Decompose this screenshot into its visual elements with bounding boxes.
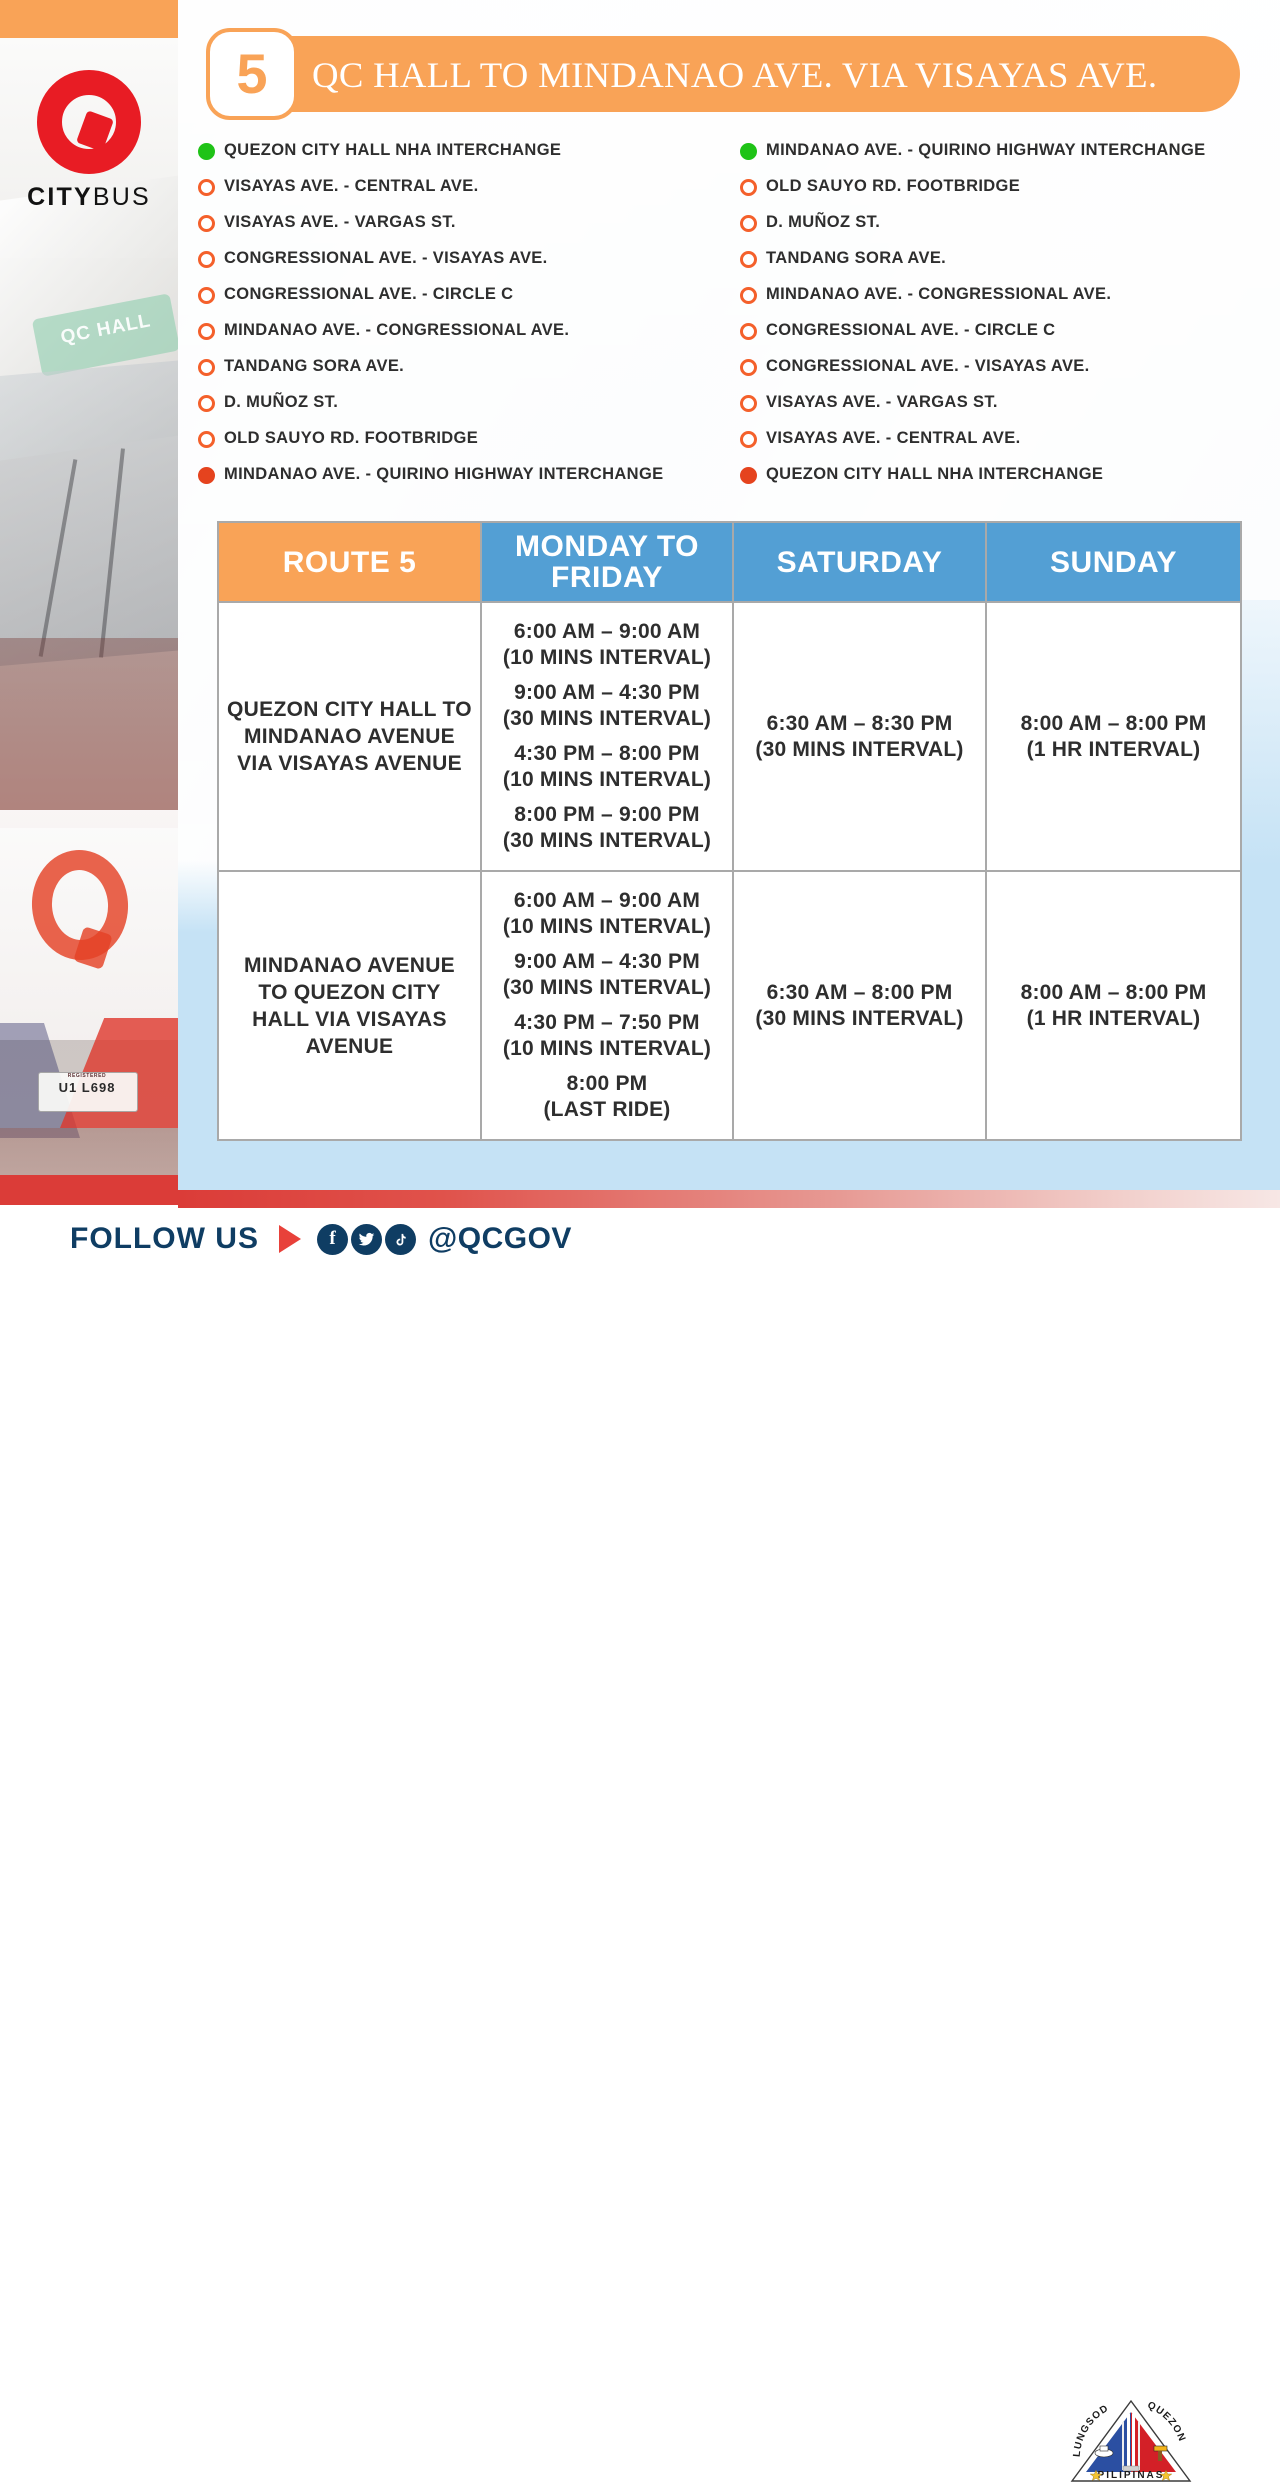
top-orange-accent-bar bbox=[0, 0, 178, 38]
column-header-saturday: SATURDAY bbox=[733, 522, 986, 602]
time-block: 4:30 PM – 7:50 PM(10 MINS INTERVAL) bbox=[490, 1010, 724, 1062]
stop-label: MINDANAO AVE. - CONGRESSIONAL AVE. bbox=[766, 282, 1111, 304]
route-title: QC HALL TO MINDANAO AVE. VIA VISAYAS AVE… bbox=[312, 52, 1261, 102]
stop-item: MINDANAO AVE. - QUIRINO HIGHWAY INTERCHA… bbox=[738, 138, 1268, 174]
stop-marker-plain-icon bbox=[198, 287, 215, 304]
saturday-schedule-cell: 6:30 AM – 8:00 PM(30 MINS INTERVAL) bbox=[733, 871, 986, 1140]
column-header-route: ROUTE 5 bbox=[218, 522, 481, 602]
footer-red-gradient-bar bbox=[178, 1190, 1280, 1208]
sunday-schedule-cell: 8:00 AM – 8:00 PM(1 HR INTERVAL) bbox=[986, 602, 1241, 871]
stop-marker-plain-icon bbox=[198, 395, 215, 412]
time-block: 9:00 AM – 4:30 PM(30 MINS INTERVAL) bbox=[490, 949, 724, 1001]
photo-plate-registered-label: REGISTERED bbox=[38, 1073, 136, 1079]
stop-item: TANDANG SORA AVE. bbox=[738, 246, 1268, 282]
stop-marker-plain-icon bbox=[740, 395, 757, 412]
stop-label: OLD SAUYO RD. FOOTBRIDGE bbox=[766, 174, 1020, 196]
stop-marker-plain-icon bbox=[740, 287, 757, 304]
stop-label: VISAYAS AVE. - CENTRAL AVE. bbox=[224, 174, 479, 196]
schedule-row: MINDANAO AVENUE TO QUEZON CITY HALL VIA … bbox=[218, 871, 1241, 1140]
stop-marker-plain-icon bbox=[740, 179, 757, 196]
footer: FOLLOW US f @QCGOV LUNGSOD bbox=[0, 1208, 1280, 1280]
schedule-table: ROUTE 5 MONDAY TO FRIDAY SATURDAY SUNDAY… bbox=[217, 521, 1242, 1141]
stop-marker-plain-icon bbox=[740, 431, 757, 448]
weekday-schedule-cell: 6:00 AM – 9:00 AM(10 MINS INTERVAL)9:00 … bbox=[481, 871, 733, 1140]
stop-label: VISAYAS AVE. - VARGAS ST. bbox=[766, 390, 998, 412]
stop-marker-green-icon bbox=[198, 143, 215, 160]
stop-list-inbound: MINDANAO AVE. - QUIRINO HIGHWAY INTERCHA… bbox=[738, 138, 1268, 498]
stop-label: QUEZON CITY HALL NHA INTERCHANGE bbox=[766, 462, 1103, 484]
tiktok-icon[interactable] bbox=[385, 1224, 416, 1255]
stop-item: D. MUÑOZ ST. bbox=[196, 390, 716, 426]
schedule-body: QUEZON CITY HALL TO MINDANAO AVENUE VIA … bbox=[218, 602, 1241, 1140]
stop-item: MINDANAO AVE. - CONGRESSIONAL AVE. bbox=[196, 318, 716, 354]
stop-label: D. MUÑOZ ST. bbox=[766, 210, 880, 232]
stop-item: MINDANAO AVE. - CONGRESSIONAL AVE. bbox=[738, 282, 1268, 318]
direction-cell: MINDANAO AVENUE TO QUEZON CITY HALL VIA … bbox=[218, 871, 481, 1140]
stop-label: MINDANAO AVE. - QUIRINO HIGHWAY INTERCHA… bbox=[766, 138, 1206, 160]
stop-label: VISAYAS AVE. - VARGAS ST. bbox=[224, 210, 456, 232]
time-block: 4:30 PM – 8:00 PM(10 MINS INTERVAL) bbox=[490, 741, 724, 793]
photo-plate-number: U1 L698 bbox=[38, 1080, 136, 1095]
stop-item: TANDANG SORA AVE. bbox=[196, 354, 716, 390]
stop-item: VISAYAS AVE. - CENTRAL AVE. bbox=[196, 174, 716, 210]
stop-marker-plain-icon bbox=[198, 251, 215, 268]
stop-item: CONGRESSIONAL AVE. - CIRCLE C bbox=[196, 282, 716, 318]
stop-label: TANDANG SORA AVE. bbox=[766, 246, 946, 268]
quezon-city-seal-icon: LUNGSOD QUEZON PILIPINAS bbox=[1066, 2396, 1196, 2488]
route-number: 5 bbox=[236, 46, 267, 102]
stop-item: CONGRESSIONAL AVE. - VISAYAS AVE. bbox=[738, 354, 1268, 390]
stop-marker-red-icon bbox=[198, 467, 215, 484]
time-block: 6:00 AM – 9:00 AM(10 MINS INTERVAL) bbox=[490, 619, 724, 671]
facebook-icon[interactable]: f bbox=[317, 1224, 348, 1255]
stop-marker-plain-icon bbox=[740, 359, 757, 376]
twitter-icon[interactable] bbox=[351, 1224, 382, 1255]
stop-label: D. MUÑOZ ST. bbox=[224, 390, 338, 412]
follow-us-row: FOLLOW US f @QCGOV bbox=[70, 1222, 572, 1256]
saturday-schedule-cell: 6:30 AM – 8:30 PM(30 MINS INTERVAL) bbox=[733, 602, 986, 871]
stop-item: OLD SAUYO RD. FOOTBRIDGE bbox=[196, 426, 716, 462]
stop-marker-plain-icon bbox=[198, 323, 215, 340]
time-block: 8:00 PM – 9:00 PM(30 MINS INTERVAL) bbox=[490, 802, 724, 854]
schedule-row: QUEZON CITY HALL TO MINDANAO AVENUE VIA … bbox=[218, 602, 1241, 871]
stop-marker-plain-icon bbox=[198, 359, 215, 376]
stop-label: CONGRESSIONAL AVE. - VISAYAS AVE. bbox=[766, 354, 1090, 376]
seal-text-bottom: PILIPINAS bbox=[1098, 2470, 1165, 2481]
column-header-sunday: SUNDAY bbox=[986, 522, 1241, 602]
stop-label: QUEZON CITY HALL NHA INTERCHANGE bbox=[224, 138, 561, 160]
time-block: 6:00 AM – 9:00 AM(10 MINS INTERVAL) bbox=[490, 888, 724, 940]
route-number-badge: 5 bbox=[206, 28, 298, 120]
stop-label: CONGRESSIONAL AVE. - CIRCLE C bbox=[224, 282, 513, 304]
stop-label: VISAYAS AVE. - CENTRAL AVE. bbox=[766, 426, 1021, 448]
stop-marker-plain-icon bbox=[198, 431, 215, 448]
stop-list-outbound: QUEZON CITY HALL NHA INTERCHANGEVISAYAS … bbox=[196, 138, 716, 498]
photo-shadow-band bbox=[0, 638, 178, 828]
social-handle: @QCGOV bbox=[428, 1222, 572, 1256]
stop-marker-plain-icon bbox=[198, 215, 215, 232]
stop-item: VISAYAS AVE. - VARGAS ST. bbox=[196, 210, 716, 246]
stop-item: CONGRESSIONAL AVE. - VISAYAS AVE. bbox=[196, 246, 716, 282]
citybus-logo: CITYBUS bbox=[0, 70, 178, 212]
stop-item: VISAYAS AVE. - VARGAS ST. bbox=[738, 390, 1268, 426]
stop-label: MINDANAO AVE. - QUIRINO HIGHWAY INTERCHA… bbox=[224, 462, 664, 484]
sunday-schedule-cell: 8:00 AM – 8:00 PM(1 HR INTERVAL) bbox=[986, 871, 1241, 1140]
stop-label: OLD SAUYO RD. FOOTBRIDGE bbox=[224, 426, 478, 448]
stop-item: D. MUÑOZ ST. bbox=[738, 210, 1268, 246]
qc-q-logo-tail-icon bbox=[76, 110, 114, 152]
qc-q-logo-icon bbox=[37, 70, 141, 174]
stop-marker-plain-icon bbox=[740, 251, 757, 268]
follow-us-label: FOLLOW US bbox=[70, 1222, 259, 1256]
time-block: 9:00 AM – 4:30 PM(30 MINS INTERVAL) bbox=[490, 680, 724, 732]
citybus-wordmark: CITYBUS bbox=[0, 183, 178, 212]
stop-label: CONGRESSIONAL AVE. - CIRCLE C bbox=[766, 318, 1055, 340]
time-block: 8:00 PM(LAST RIDE) bbox=[490, 1071, 724, 1123]
citybus-wordmark-bold: CITY bbox=[27, 183, 93, 211]
direction-cell: QUEZON CITY HALL TO MINDANAO AVENUE VIA … bbox=[218, 602, 481, 871]
photo-windshield bbox=[0, 359, 178, 666]
stop-marker-plain-icon bbox=[740, 323, 757, 340]
weekday-schedule-cell: 6:00 AM – 9:00 AM(10 MINS INTERVAL)9:00 … bbox=[481, 602, 733, 871]
stop-marker-plain-icon bbox=[198, 179, 215, 196]
bus-photo-strip: QC HALL REGISTERED U1 L698 bbox=[0, 38, 178, 1205]
stop-marker-red-icon bbox=[740, 467, 757, 484]
stop-item: QUEZON CITY HALL NHA INTERCHANGE bbox=[738, 462, 1268, 498]
column-header-weekday: MONDAY TO FRIDAY bbox=[481, 522, 733, 602]
left-red-bar bbox=[0, 1175, 178, 1205]
stop-marker-plain-icon bbox=[740, 215, 757, 232]
play-triangle-icon bbox=[279, 1225, 301, 1253]
stop-item: VISAYAS AVE. - CENTRAL AVE. bbox=[738, 426, 1268, 462]
stop-item: MINDANAO AVE. - QUIRINO HIGHWAY INTERCHA… bbox=[196, 462, 716, 498]
stop-label: MINDANAO AVE. - CONGRESSIONAL AVE. bbox=[224, 318, 569, 340]
stop-label: CONGRESSIONAL AVE. - VISAYAS AVE. bbox=[224, 246, 548, 268]
stop-item: CONGRESSIONAL AVE. - CIRCLE C bbox=[738, 318, 1268, 354]
citybus-wordmark-light: BUS bbox=[93, 183, 151, 211]
stop-label: TANDANG SORA AVE. bbox=[224, 354, 404, 376]
stop-marker-green-icon bbox=[740, 143, 757, 160]
schedule-header-row: ROUTE 5 MONDAY TO FRIDAY SATURDAY SUNDAY bbox=[218, 522, 1241, 602]
stop-item: QUEZON CITY HALL NHA INTERCHANGE bbox=[196, 138, 716, 174]
stop-item: OLD SAUYO RD. FOOTBRIDGE bbox=[738, 174, 1268, 210]
